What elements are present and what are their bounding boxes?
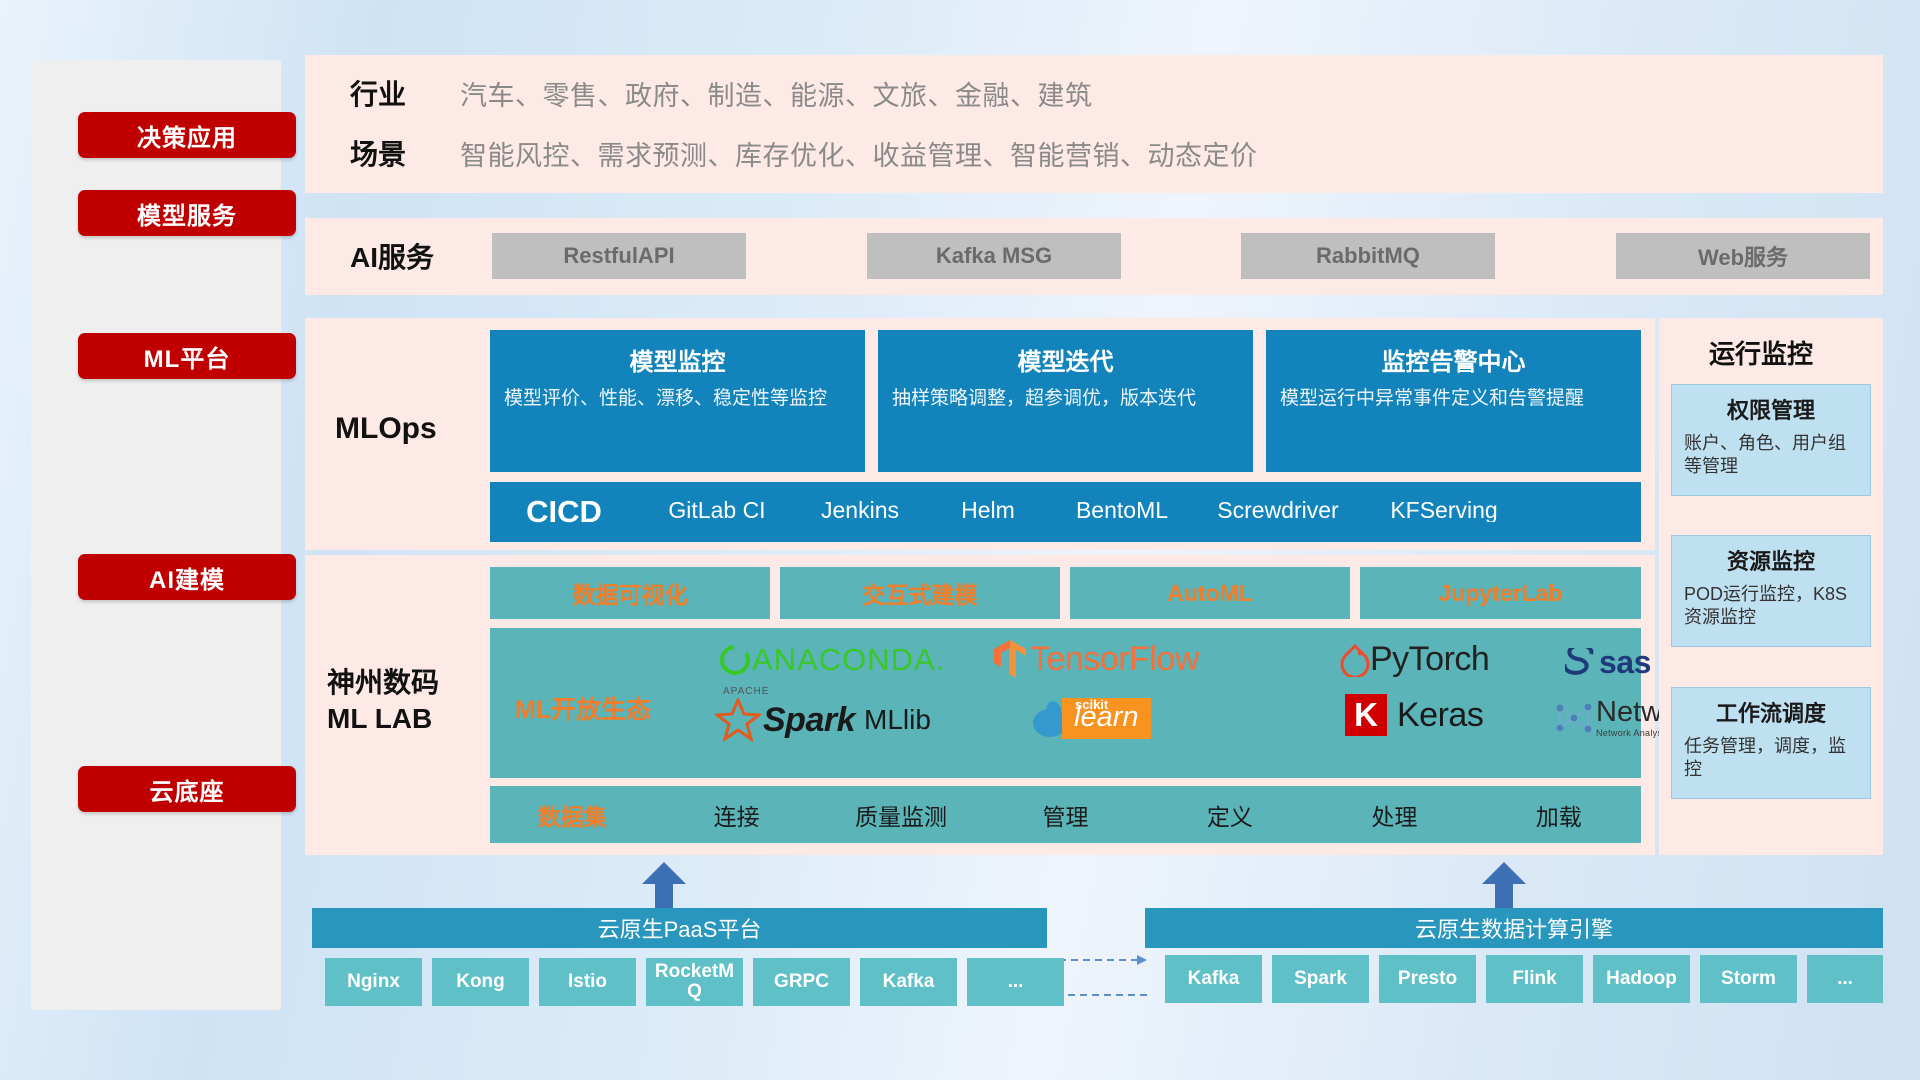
monitoring-title: 运行监控 xyxy=(1709,334,1813,371)
rail-tag-decision-app[interactable]: 决策应用 xyxy=(78,112,296,158)
engine-chip-flink[interactable]: Flink xyxy=(1486,955,1583,1003)
dataset-row: 数据集 连接 质量监测 管理 定义 处理 加载 xyxy=(490,786,1641,843)
cicd-item-helm[interactable]: Helm xyxy=(924,482,1052,522)
ai-service-item-restfulapi[interactable]: RestfulAPI xyxy=(492,233,746,279)
ai-service-label: AI服务 xyxy=(350,236,434,276)
dataset-item-quality[interactable]: 质量监测 xyxy=(819,798,983,832)
engine-chip-more[interactable]: ... xyxy=(1807,955,1883,1003)
cicd-bar: CICD GitLab CI Jenkins Helm BentoML Scre… xyxy=(490,482,1641,542)
dataset-item-process[interactable]: 处理 xyxy=(1312,798,1476,832)
paas-chip-istio[interactable]: Istio xyxy=(539,958,636,1006)
mlops-card-model-monitoring[interactable]: 模型监控 模型评价、性能、漂移、稳定性等监控 xyxy=(490,330,865,472)
paas-chip-kong[interactable]: Kong xyxy=(432,958,529,1006)
ml-lab-label-line2: ML LAB xyxy=(327,701,439,737)
industry-label: 行业 xyxy=(350,73,460,113)
rail-tag-model-service[interactable]: 模型服务 xyxy=(78,190,296,236)
card-desc: 模型运行中异常事件定义和告警提醒 xyxy=(1280,387,1627,412)
ml-eco-label: ML开放生态 xyxy=(515,690,651,726)
monitoring-panel: 运行监控 权限管理 账户、角色、用户组等管理 资源监控 POD运行监控，K8S资… xyxy=(1659,318,1883,855)
card-title: 监控告警中心 xyxy=(1280,342,1627,377)
cicd-title: CICD xyxy=(490,482,638,530)
cicd-item-bentoml[interactable]: BentoML xyxy=(1052,482,1192,522)
usecase-row: 场景 智能风控、需求预测、库存优化、收益管理、智能营销、动态定价 xyxy=(350,133,1258,173)
mlops-card-alert-center[interactable]: 监控告警中心 模型运行中异常事件定义和告警提醒 xyxy=(1266,330,1641,472)
paas-chip-rocketmq[interactable]: RocketMQ xyxy=(646,958,743,1006)
rail-tag-cloud-base[interactable]: 云底座 xyxy=(78,766,296,812)
ai-service-item-web-service[interactable]: Web服务 xyxy=(1616,233,1870,279)
card-title: 工作流调度 xyxy=(1684,696,1858,728)
lab-chip-automl[interactable]: AutoML xyxy=(1070,567,1350,619)
industry-row: 行业 汽车、零售、政府、制造、能源、文旅、金融、建筑 xyxy=(350,73,1093,113)
ai-service-item-kafka-msg[interactable]: Kafka MSG xyxy=(867,233,1121,279)
pytorch-logo: PyTorch xyxy=(1340,640,1489,679)
rail-tag-ml-platform[interactable]: ML平台 xyxy=(78,333,296,379)
ai-service-item-rabbitmq[interactable]: RabbitMQ xyxy=(1241,233,1495,279)
scenario-panel: 行业 汽车、零售、政府、制造、能源、文旅、金融、建筑 场景 智能风控、需求预测、… xyxy=(305,55,1883,193)
arrow-up-paas xyxy=(640,860,688,908)
cicd-item-jenkins[interactable]: Jenkins xyxy=(796,482,924,522)
scikit-learn-logo: scikit learn xyxy=(1028,698,1151,739)
apache-label: APACHE xyxy=(723,686,769,697)
lab-chip-jupyterlab[interactable]: JupyterLab xyxy=(1360,567,1641,619)
ml-eco-block: ML开放生态 ANACONDA. TensorFlow xyxy=(490,628,1641,778)
paas-chip-more[interactable]: ... xyxy=(967,958,1064,1006)
cicd-item-screwdriver[interactable]: Screwdriver xyxy=(1192,482,1364,522)
usecase-text: 智能风控、需求预测、库存优化、收益管理、智能营销、动态定价 xyxy=(460,134,1258,173)
rail-tag-ai-modeling[interactable]: AI建模 xyxy=(78,554,296,600)
sas-logo-text: sas xyxy=(1599,644,1651,681)
lab-chip-data-visualization[interactable]: 数据可视化 xyxy=(490,567,770,619)
paas-chip-kafka[interactable]: Kafka xyxy=(860,958,957,1006)
mlops-label: MLOps xyxy=(335,410,437,448)
keras-logo: K Keras xyxy=(1345,694,1483,736)
mllib-label: MLlib xyxy=(864,704,931,736)
ai-service-panel: AI服务 RestfulAPI Kafka MSG RabbitMQ Web服务 xyxy=(305,218,1883,295)
card-title: 资源监控 xyxy=(1684,544,1858,576)
monitoring-card-resources[interactable]: 资源监控 POD运行监控，K8S资源监控 xyxy=(1671,535,1871,647)
data-engine-bar: 云原生数据计算引擎 xyxy=(1145,908,1883,948)
engine-chip-hadoop[interactable]: Hadoop xyxy=(1593,955,1690,1003)
dataset-label: 数据集 xyxy=(490,798,654,832)
engine-chip-kafka[interactable]: Kafka xyxy=(1165,955,1262,1003)
card-title: 权限管理 xyxy=(1684,393,1858,425)
paas-chip-grpc[interactable]: GRPC xyxy=(753,958,850,1006)
dataset-item-load[interactable]: 加载 xyxy=(1477,798,1641,832)
usecase-label: 场景 xyxy=(350,133,460,173)
dataset-item-define[interactable]: 定义 xyxy=(1148,798,1312,832)
paas-chip-nginx[interactable]: Nginx xyxy=(325,958,422,1006)
ml-lab-panel: 神州数码 ML LAB 数据可视化 交互式建模 AutoML JupyterLa… xyxy=(305,555,1655,855)
card-desc: 账户、角色、用户组等管理 xyxy=(1684,432,1858,479)
card-desc: POD运行监控，K8S资源监控 xyxy=(1684,583,1858,630)
cicd-item-gitlab-ci[interactable]: GitLab CI xyxy=(638,482,796,522)
card-title: 模型迭代 xyxy=(892,342,1239,377)
tensorflow-logo-text: TensorFlow xyxy=(1030,640,1199,679)
paas-bar: 云原生PaaS平台 xyxy=(312,908,1047,948)
spark-mllib-logo: APACHE Spark MLlib xyxy=(715,698,931,742)
anaconda-logo-text: ANACONDA. xyxy=(752,642,945,678)
tensorflow-logo: TensorFlow xyxy=(990,638,1199,680)
spark-logo-text: Spark xyxy=(763,701,855,740)
monitoring-card-permissions[interactable]: 权限管理 账户、角色、用户组等管理 xyxy=(1671,384,1871,496)
card-desc: 模型评价、性能、漂移、稳定性等监控 xyxy=(504,387,851,412)
mlops-card-model-iteration[interactable]: 模型迭代 抽样策略调整，超参调优，版本迭代 xyxy=(878,330,1253,472)
sas-logo: sas xyxy=(1565,644,1651,681)
engine-chip-presto[interactable]: Presto xyxy=(1379,955,1476,1003)
scikit-label: scikit xyxy=(1075,697,1108,712)
ml-lab-label: 神州数码 ML LAB xyxy=(327,665,439,738)
industry-text: 汽车、零售、政府、制造、能源、文旅、金融、建筑 xyxy=(460,74,1093,113)
anaconda-logo: ANACONDA. xyxy=(718,642,945,678)
engine-chip-storm[interactable]: Storm xyxy=(1700,955,1797,1003)
mlops-panel: MLOps 模型监控 模型评价、性能、漂移、稳定性等监控 模型迭代 抽样策略调整… xyxy=(305,318,1655,550)
arrow-up-data-engine xyxy=(1480,860,1528,908)
engine-chip-spark[interactable]: Spark xyxy=(1272,955,1369,1003)
monitoring-card-workflow[interactable]: 工作流调度 任务管理，调度，监控 xyxy=(1671,687,1871,799)
dataset-item-connect[interactable]: 连接 xyxy=(654,798,818,832)
lab-chip-interactive-modeling[interactable]: 交互式建模 xyxy=(780,567,1060,619)
pytorch-logo-text: PyTorch xyxy=(1370,640,1489,679)
card-title: 模型监控 xyxy=(504,342,851,377)
cicd-item-kfserving[interactable]: KFServing xyxy=(1364,482,1524,522)
keras-logo-text: Keras xyxy=(1397,696,1483,735)
card-desc: 抽样策略调整，超参调优，版本迭代 xyxy=(892,387,1239,412)
card-desc: 任务管理，调度，监控 xyxy=(1684,735,1858,782)
left-rail: 决策应用 模型服务 ML平台 AI建模 云底座 xyxy=(31,60,281,1010)
diagram-canvas: 决策应用 模型服务 ML平台 AI建模 云底座 行业 汽车、零售、政府、制造、能… xyxy=(0,0,1920,1080)
ml-lab-label-line1: 神州数码 xyxy=(327,665,439,701)
keras-mark: K xyxy=(1345,694,1387,736)
dataset-item-manage[interactable]: 管理 xyxy=(983,798,1147,832)
